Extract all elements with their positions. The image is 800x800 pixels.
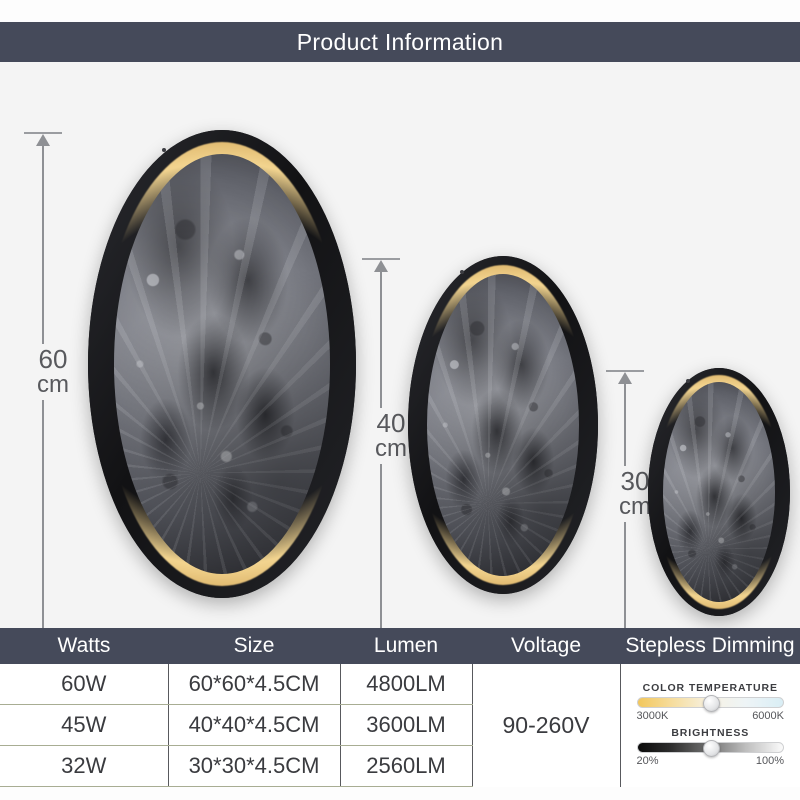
color-temperature-control: COLOR TEMPERATURE 3000K 6000K [637,682,785,722]
brightness-slider[interactable] [637,742,785,753]
page-title: Product Information [297,29,503,56]
lamp-screw [460,270,464,274]
cell-stepless-dimming: COLOR TEMPERATURE 3000K 6000K BRIGHTNESS [620,664,800,787]
lamp-screw [686,379,690,383]
cell-watts: 32W [0,746,168,787]
color-temperature-max-label: 6000K [752,710,784,722]
color-temperature-caption: COLOR TEMPERATURE [637,682,785,694]
dimension-value: 40 [377,408,406,438]
moon-face [427,274,579,576]
dimension-value: 30 [621,466,650,496]
cell-voltage: 90-260V [472,664,620,787]
dimension-label-60cm: 60 cm [22,344,84,400]
dimming-controls: COLOR TEMPERATURE 3000K 6000K BRIGHTNESS [633,664,789,787]
cell-size: 40*40*4.5CM [168,705,340,746]
product-image-stage: 60 cm 40 cm 30 cm [0,62,800,628]
table-row: 60W 60*60*4.5CM 4800LM 90-260V COLOR TEM… [0,664,800,705]
moon-face [114,154,330,574]
brightness-min-label: 20% [637,755,659,767]
cell-lumen: 2560LM [340,746,472,787]
product-information-page: Product Information 60 cm 40 cm [0,0,800,800]
cell-size: 60*60*4.5CM [168,664,340,705]
dimension-value: 60 [39,344,68,374]
column-header-lumen: Lumen [340,628,472,664]
cell-watts: 60W [0,664,168,705]
medium-moon-lamp [408,256,598,594]
moon-face [663,382,775,602]
brightness-thumb[interactable] [703,740,720,757]
brightness-control: BRIGHTNESS 20% 100% [637,727,785,767]
lamp-screw [162,148,166,152]
brightness-max-label: 100% [756,755,784,767]
column-header-watts: Watts [0,628,168,664]
brightness-caption: BRIGHTNESS [637,727,785,739]
specification-table: Watts Size Lumen Voltage Stepless Dimmin… [0,628,800,787]
color-temperature-thumb[interactable] [703,695,720,712]
cell-watts: 45W [0,705,168,746]
table-header-row: Watts Size Lumen Voltage Stepless Dimmin… [0,628,800,664]
color-temperature-slider[interactable] [637,697,785,708]
page-title-bar: Product Information [0,22,800,62]
cell-lumen: 4800LM [340,664,472,705]
column-header-stepless-dimming: Stepless Dimming [620,628,800,664]
small-moon-lamp [648,368,790,616]
large-moon-lamp [88,130,356,598]
cell-lumen: 3600LM [340,705,472,746]
color-temperature-min-label: 3000K [637,710,669,722]
dimension-unit: cm [22,372,84,397]
cell-size: 30*30*4.5CM [168,746,340,787]
column-header-voltage: Voltage [472,628,620,664]
column-header-size: Size [168,628,340,664]
